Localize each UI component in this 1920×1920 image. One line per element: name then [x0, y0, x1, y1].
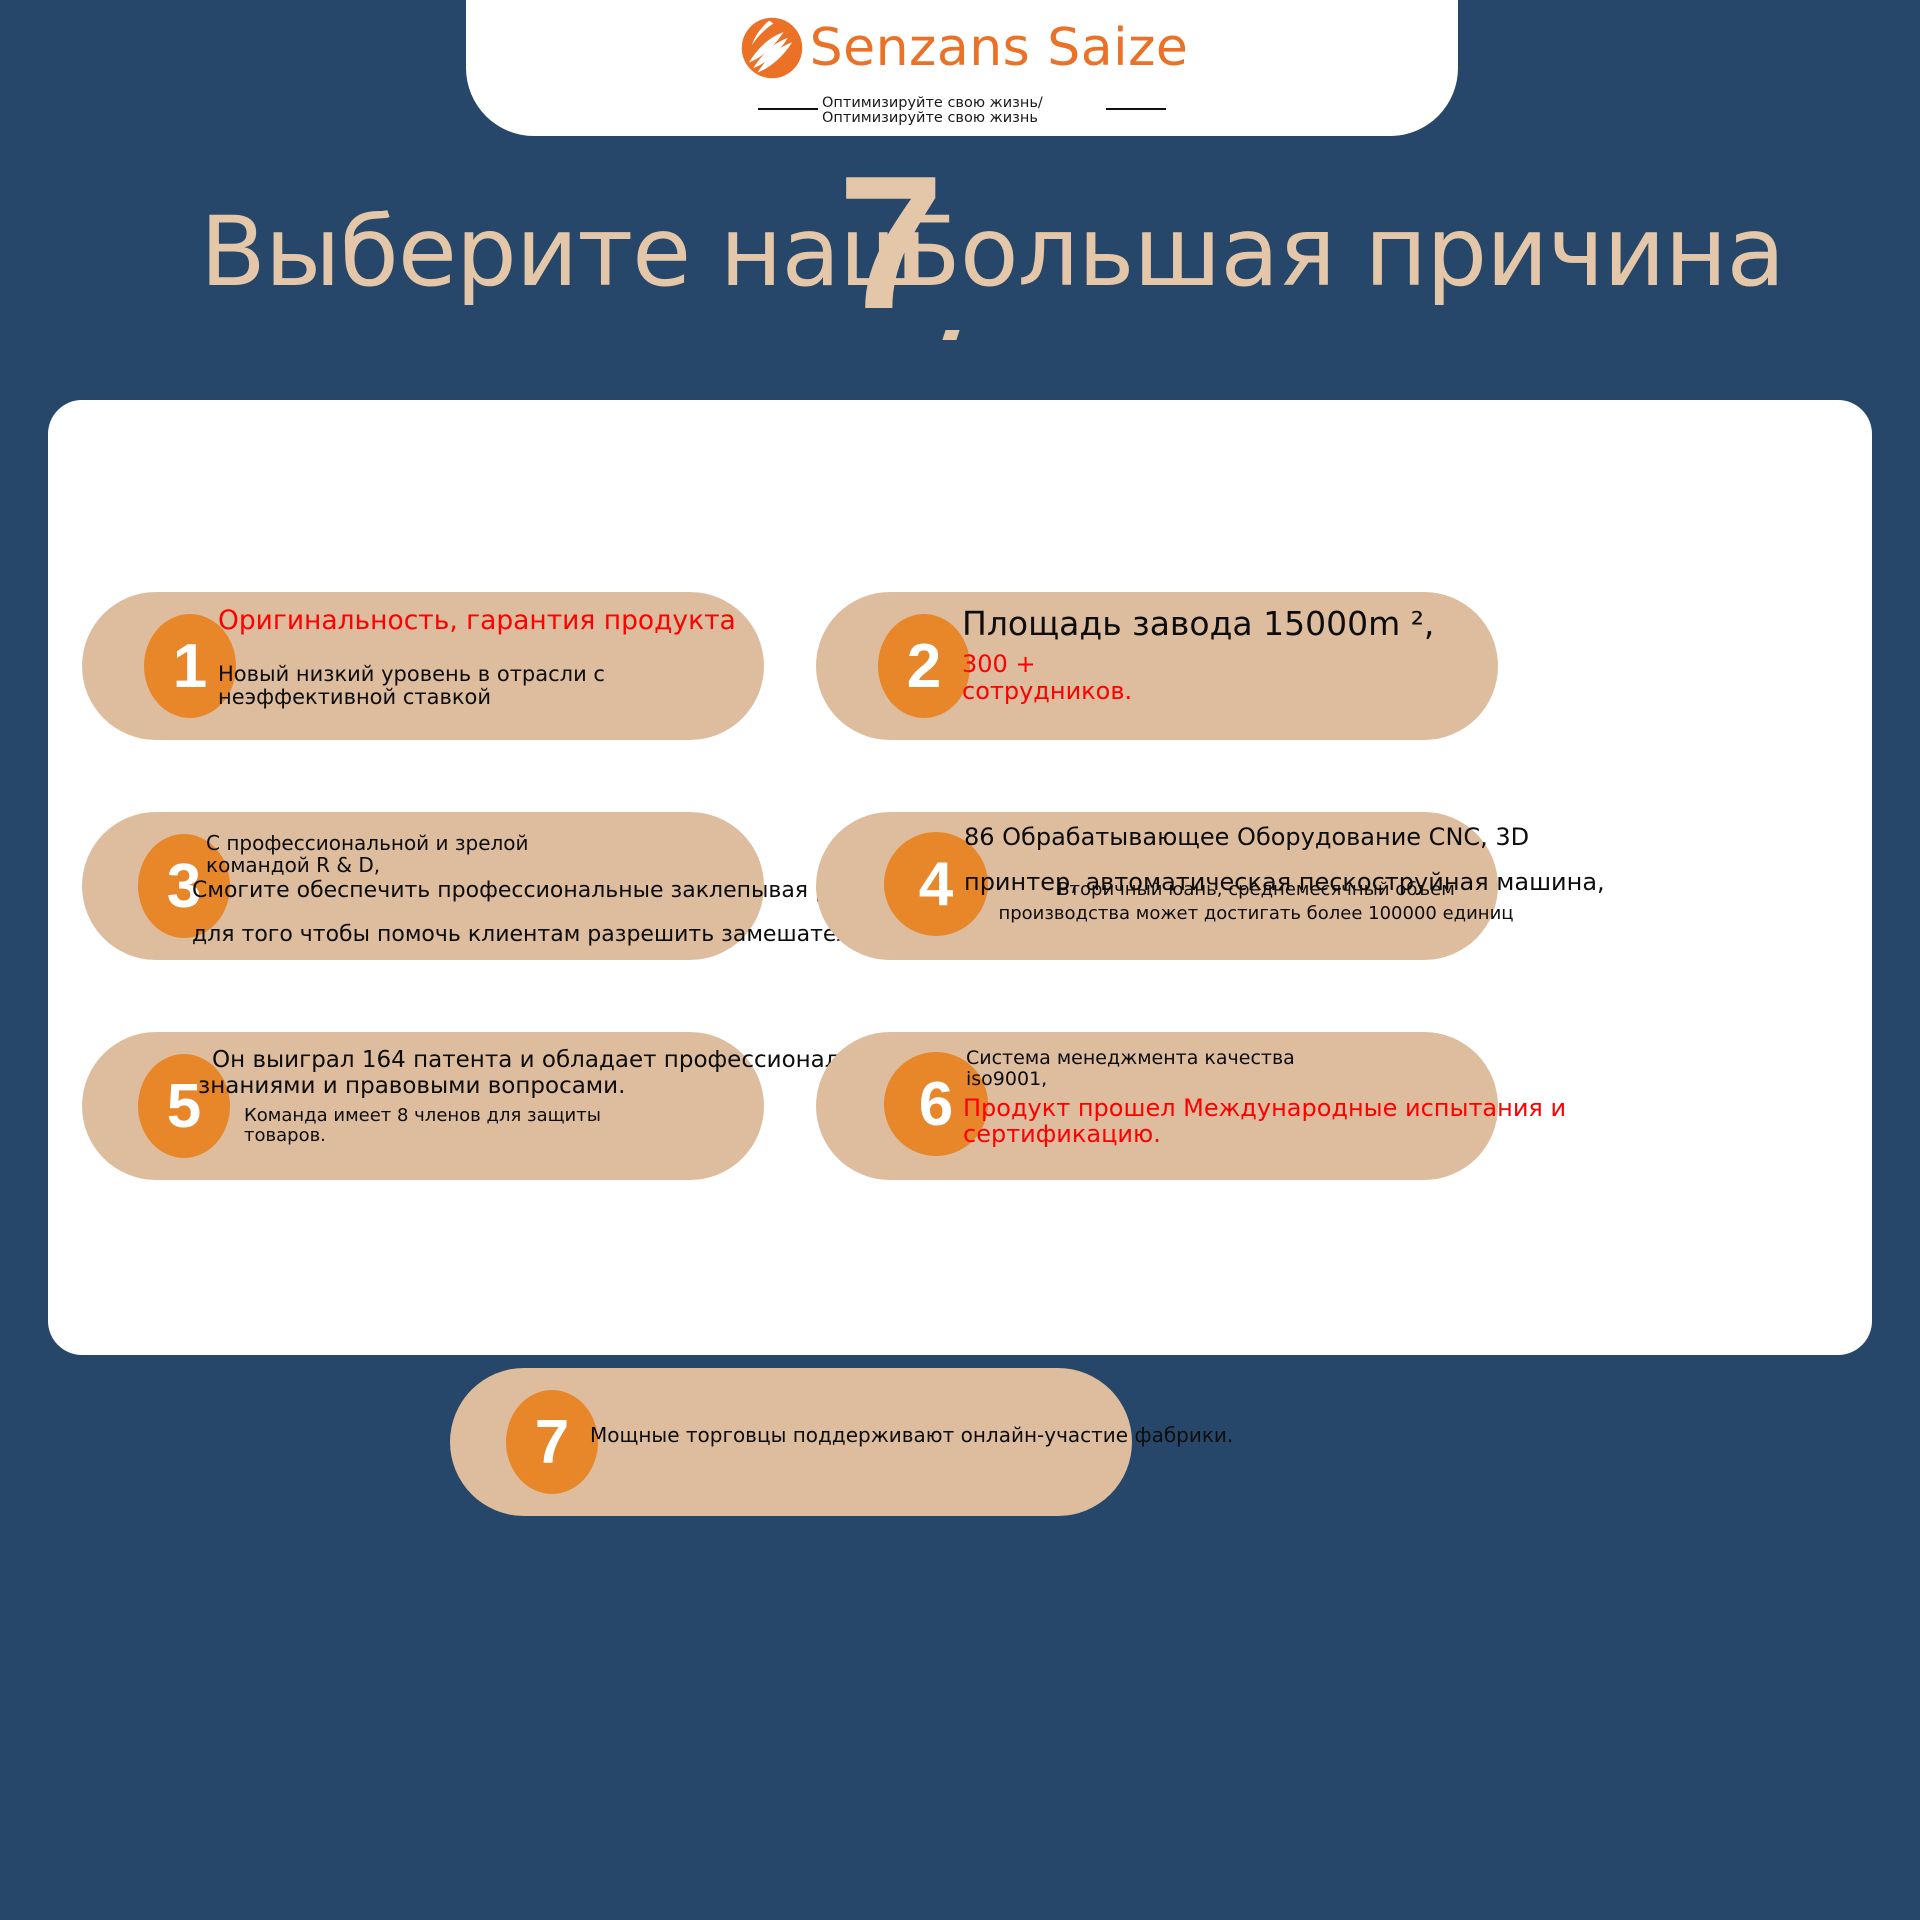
- reason-3-line-2: командой R & D,: [206, 854, 922, 876]
- reason-6-line-3: Продукт прошел Международные испытания и: [963, 1095, 1566, 1122]
- hero-tail-text: Большая причина: [895, 196, 1784, 308]
- reason-item-1[interactable]: 1 Оригинальность, гарантия продукта Новы…: [82, 592, 764, 740]
- reason-body-6: Система менеджмента качества iso9001, Пр…: [966, 1048, 1566, 1148]
- reason-6-line-2: iso9001,: [966, 1069, 1566, 1090]
- reason-1-line-1: Оригинальность, гарантия продукта: [218, 606, 736, 636]
- reason-6-line-1: Система менеджмента качества: [966, 1048, 1566, 1069]
- tagline-rule-right: [1106, 108, 1166, 110]
- reason-badge-2: 2: [878, 614, 970, 718]
- brand-name: Senzans Saize: [810, 18, 1189, 78]
- tagline-block: Оптимизируйте свою жизнь/Оптимизируйте с…: [466, 96, 1458, 126]
- brand-tagline: Оптимизируйте свою жизнь/Оптимизируйте с…: [822, 96, 1102, 126]
- tagline-rule-left: [758, 108, 818, 110]
- brand-logo: Senzans Saize: [466, 8, 1458, 88]
- reason-5-line-4: товаров.: [244, 1126, 919, 1146]
- reason-item-7[interactable]: 7 Мощные торговцы поддерживают онлайн-уч…: [450, 1368, 1132, 1516]
- reason-5-line-2: знаниями и правовыми вопросами.: [198, 1074, 919, 1100]
- infographic-page: Senzans Saize Оптимизируйте свою жизнь/О…: [0, 0, 1920, 1920]
- reason-item-5[interactable]: 5 Он выиграл 164 патента и обладает проф…: [82, 1032, 764, 1180]
- reason-4-line-1: 86 Обрабатывающее Оборудование CNC, 3D: [964, 824, 1605, 851]
- reason-item-6[interactable]: 6 Система менеджмента качества iso9001, …: [816, 1032, 1498, 1180]
- reason-body-1: Оригинальность, гарантия продукта Новый …: [218, 606, 736, 710]
- swirl-leaf-icon: [736, 12, 808, 84]
- reason-badge-7: 7: [506, 1390, 598, 1494]
- reason-body-5: Он выиграл 164 патента и обладает профес…: [212, 1048, 919, 1146]
- reason-body-2: Площадь завода 15000m ², 300 + сотрудник…: [962, 606, 1434, 705]
- hero-lead-text: Выберите наш: [200, 196, 926, 308]
- reason-body-3: С профессиональной и зрелой командой R &…: [206, 832, 922, 948]
- reason-3-line-3: Смогите обеспечить профессиональные закл…: [192, 879, 922, 904]
- reason-body-7: Мощные торговцы поддерживают онлайн-учас…: [590, 1424, 1233, 1446]
- reason-1-line-2: Новый низкий уровень в отрасли с: [218, 663, 736, 687]
- reason-item-2[interactable]: 2 Площадь завода 15000m ², 300 + сотрудн…: [816, 592, 1498, 740]
- reason-item-3[interactable]: 3 С профессиональной и зрелой командой R…: [82, 812, 764, 960]
- reason-6-line-4: сертификацию.: [963, 1121, 1566, 1148]
- reason-2-line-3: сотрудников.: [962, 678, 1434, 705]
- reason-3-line-4: для того чтобы помочь клиентам разрешить…: [192, 923, 922, 948]
- hero-heading: Выберите наш 7 Большая причина: [0, 196, 1920, 396]
- reason-2-line-1: Площадь завода 15000m ²,: [962, 606, 1434, 643]
- reason-2-line-2: 300 +: [962, 651, 1434, 678]
- hero-accent-tick-icon: [942, 330, 959, 340]
- reason-4-overlay: Вторичный юань, среднемесячный объем про…: [996, 878, 1516, 927]
- reason-5-line-1: Он выиграл 164 патента и обладает профес…: [212, 1048, 919, 1074]
- reason-7-line-1: Мощные торговцы поддерживают онлайн-учас…: [590, 1424, 1233, 1446]
- reason-item-4[interactable]: 4 86 Обрабатывающее Оборудование CNC, 3D…: [816, 812, 1498, 960]
- reason-1-line-3: неэффективной ставкой: [218, 686, 736, 710]
- reason-4-overlay-line-2: производства может достигать более 10000…: [996, 902, 1516, 926]
- reason-3-line-1: С профессиональной и зрелой: [206, 832, 922, 854]
- reason-4-overlay-line-1: Вторичный юань, среднемесячный объем: [996, 878, 1516, 902]
